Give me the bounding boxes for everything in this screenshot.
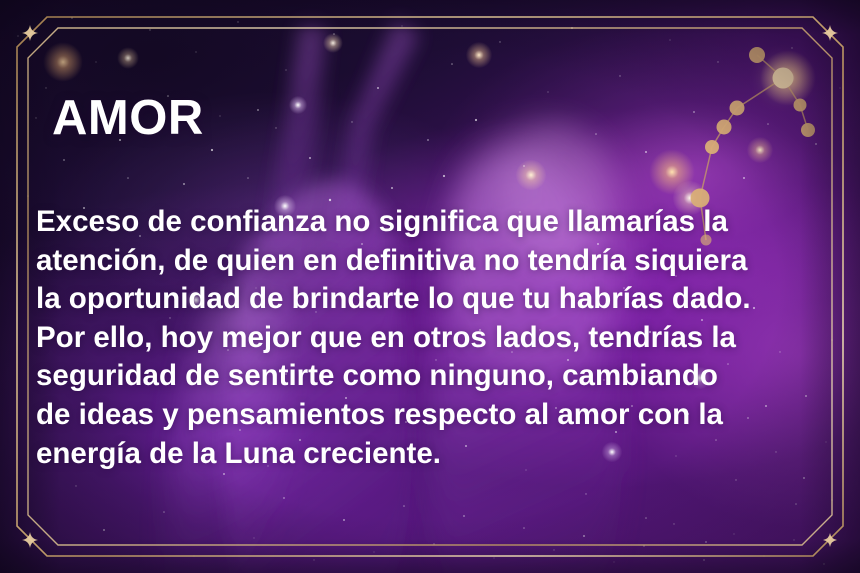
body-line: de ideas y pensamientos respecto al amor… bbox=[36, 396, 826, 435]
horoscope-card: AMOR Exceso de confianza no significa qu… bbox=[0, 0, 860, 573]
card-content: AMOR Exceso de confianza no significa qu… bbox=[0, 0, 860, 573]
page-title: AMOR bbox=[52, 94, 204, 143]
body-line: energía de la Luna creciente. bbox=[36, 435, 826, 474]
body-line: seguridad de sentirte como ninguno, camb… bbox=[36, 357, 826, 396]
body-line: la oportunidad de brindarte lo que tu ha… bbox=[36, 280, 826, 319]
body-line: atención, de quien en definitiva no tend… bbox=[36, 242, 826, 281]
body-line: Por ello, hoy mejor que en otros lados, … bbox=[36, 319, 826, 358]
body-line: Exceso de confianza no significa que lla… bbox=[36, 203, 826, 242]
prediction-body: Exceso de confianza no significa que lla… bbox=[36, 203, 826, 473]
